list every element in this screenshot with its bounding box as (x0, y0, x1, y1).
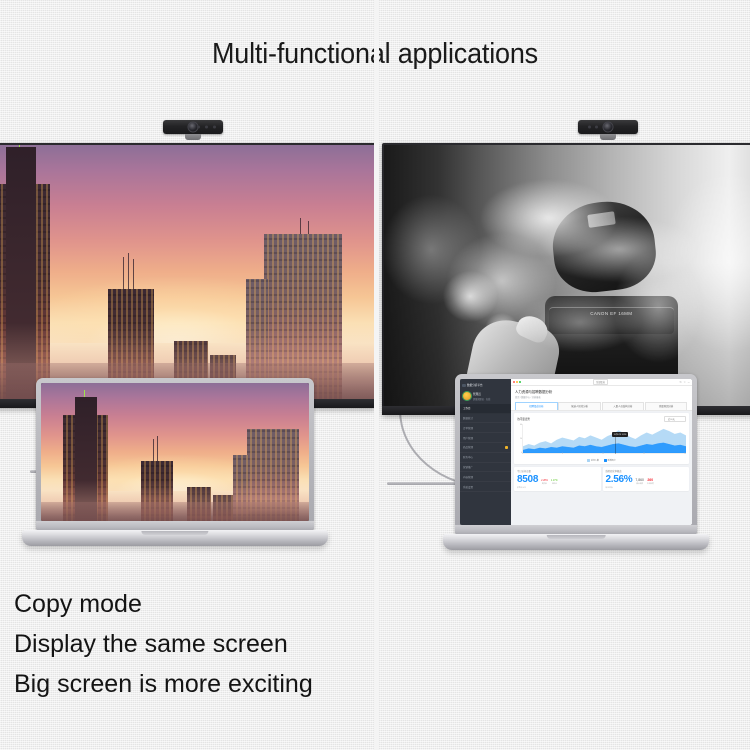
antenna (19, 145, 20, 147)
antenna (123, 257, 124, 289)
user-role: 超级管理员 · 在线 (473, 399, 490, 401)
city-skyline-image-mirror (41, 383, 309, 521)
laptop-right: 数据分析平台 管理员 超级管理员 · 在线 工作台 (455, 374, 697, 550)
sidebar-item-3[interactable]: 用户管理 (460, 433, 511, 443)
poster-root: Multi-functional applications (0, 0, 750, 750)
kpi-extra-value: 7,860 (635, 478, 644, 482)
chart-legend: 访问人数 新增用户 (517, 459, 686, 462)
x-tick: 30 (684, 454, 686, 457)
caption-line-3: Big screen is more exciting (14, 664, 313, 704)
kpi-sub: 较昨日上升 (517, 486, 597, 489)
chart-tooltip: 12月17日 3,218 (612, 432, 629, 437)
channel-selector[interactable]: 全部渠道 (593, 379, 608, 385)
antenna (84, 390, 85, 397)
sidebar-item-1[interactable]: 数据统计 (460, 414, 511, 424)
kpi-extra-0: 7,860 累计线索 (635, 478, 644, 485)
sidebar-item-label: 用户管理 (463, 436, 473, 440)
antenna (128, 253, 129, 289)
kpi-row-values: 8508 2.28% 周同比 1.17% 日环比 (517, 475, 597, 485)
tv-bezel (0, 143, 374, 408)
webcam-device-right (578, 120, 638, 134)
bell-icon[interactable]: ☆ (683, 381, 685, 384)
x-tick: 1 (522, 454, 523, 457)
kpi-card-1: 线索转化率概览 2.56% 7,860 累计线索 260 (603, 467, 689, 492)
sidebar-item-label: 订单管理 (463, 426, 473, 430)
sidebar-item-label: 数据统计 (463, 416, 473, 420)
antenna (157, 436, 158, 461)
antenna (308, 221, 309, 234)
kpi-delta-0: 2.28% 周同比 (541, 479, 548, 485)
tab-2[interactable]: 入职人员结构分析 (602, 402, 645, 410)
laptop-lid (36, 378, 314, 530)
kpi-row: 今日访问总量 8508 2.28% 周同比 1.17% (514, 467, 689, 492)
kpi-extra-value: 260 (647, 478, 653, 482)
analytics-dashboard: 数据分析平台 管理员 超级管理员 · 在线 工作台 (460, 379, 692, 525)
copy-mode-caption: Copy mode Display the same screen Big sc… (14, 584, 313, 704)
sidebar-item-5[interactable]: 财务中心 (460, 453, 511, 463)
sidebar-brand: 数据分析平台 (460, 381, 511, 389)
sidebar-item-label: 内容管理 (463, 475, 473, 479)
area-chart: 40 20 0 1 8 (517, 424, 686, 457)
tv-screen (0, 145, 374, 399)
dashboard-page-header: 人力资源与招聘数据分析 首页 / 数据中心 / 分析报表 (511, 386, 692, 401)
sidebar-item-label: 营销推广 (463, 465, 473, 469)
range-dropdown[interactable]: 近30天 (664, 416, 686, 423)
webcam-lens-icon (604, 123, 613, 132)
sidebar-item-label: 财务中心 (463, 455, 473, 459)
webcam-device-left (163, 120, 223, 134)
webcam-clip (600, 134, 616, 140)
tab-0[interactable]: 招聘渠道分析 (515, 402, 558, 410)
kpi-extra-caption: 累计线索 (636, 483, 643, 485)
sidebar-item-0[interactable]: 工作台 (460, 404, 511, 414)
window-controls[interactable] (513, 381, 521, 383)
topbar-icons: ↻ ☆ ⋯ (679, 381, 690, 384)
kpi-card-0: 今日访问总量 8508 2.28% 周同比 1.17% (514, 467, 600, 492)
legend-label: 访问人数 (591, 459, 599, 462)
webcam-body (578, 120, 638, 134)
kpi-delta-1: 1.17% 日环比 (551, 479, 558, 485)
sidebar-item-6[interactable]: 营销推广 (460, 463, 511, 473)
webcam-mic-dot (205, 126, 208, 129)
chart-svg (523, 424, 686, 453)
laptop-screen-right: 数据分析平台 管理员 超级管理员 · 在线 工作台 (460, 379, 692, 525)
laptop-trackpad-notch (547, 535, 606, 539)
close-icon[interactable] (513, 381, 515, 383)
antenna (133, 259, 134, 289)
laptop-base (443, 534, 709, 550)
legend-swatch (604, 459, 607, 462)
refresh-icon[interactable]: ↻ (679, 381, 681, 384)
kpi-extra-1: 260 今日新增 (647, 478, 654, 485)
caption-line-1: Copy mode (14, 584, 313, 624)
atmosphere-haze (41, 480, 309, 521)
photographer-image: CANON EF 16MM (384, 145, 750, 406)
tab-3[interactable]: 离职原因分析 (645, 402, 688, 410)
extended-mode-panel: CANON EF 16MM LeTV (379, 0, 750, 750)
legend-item-0[interactable]: 访问人数 (587, 459, 599, 462)
smoke-overlay (384, 145, 750, 406)
minimize-icon[interactable] (516, 381, 518, 383)
sidebar-item-2[interactable]: 订单管理 (460, 423, 511, 433)
kpi-value: 2.56% (606, 475, 633, 485)
x-tick: 15 (602, 454, 604, 457)
kpi-label: 线索转化率概览 (606, 469, 686, 473)
antenna (300, 218, 301, 234)
kpi-value: 8508 (517, 475, 538, 485)
webcam-mic-dot (595, 126, 598, 129)
more-icon[interactable]: ⋯ (688, 381, 690, 384)
sidebar-item-label: 商品管理 (463, 445, 473, 449)
chart-plot-area (522, 424, 686, 454)
caption-line-2: Display the same screen (14, 624, 313, 664)
avatar (463, 392, 471, 400)
sidebar-user[interactable]: 管理员 超级管理员 · 在线 (460, 389, 511, 404)
laptop-lid-chin (36, 521, 314, 530)
x-axis: 1 8 15 22 30 (522, 454, 686, 457)
webcam-mic-dot (197, 126, 200, 129)
laptop-base (22, 530, 328, 546)
dashboard-main: 全部渠道 ↻ ☆ ⋯ 人力资源与招聘数据分析 首页 / 数据中心 / 分析报表 (511, 379, 692, 525)
laptop-left (36, 378, 314, 546)
sidebar-item-7[interactable]: 内容管理 (460, 472, 511, 482)
webcam-mic-dot (588, 126, 591, 129)
kpi-label: 今日访问总量 (517, 469, 597, 473)
kpi-extra-caption: 今日新增 (647, 483, 654, 485)
brand-logo-icon (462, 384, 466, 387)
laptop-screen-left (41, 383, 309, 521)
kpi-delta-caption: 日环比 (552, 483, 557, 485)
kpi-delta-caption: 周同比 (542, 483, 547, 485)
sidebar-item-8[interactable]: 系统设置 (460, 482, 511, 492)
user-meta: 管理员 超级管理员 · 在线 (473, 392, 490, 401)
trend-chart-card: 访问量走势 近30天 40 20 0 (514, 413, 689, 464)
maximize-icon[interactable] (519, 381, 521, 383)
city-skyline-image (0, 145, 374, 399)
webcam-mic-dot (213, 126, 216, 129)
kpi-sub: 转化目标 (606, 486, 686, 489)
laptop-lid-chin (455, 525, 697, 534)
tv-screen: CANON EF 16MM (384, 145, 750, 406)
laptop-lid: 数据分析平台 管理员 超级管理员 · 在线 工作台 (455, 374, 697, 534)
tv-display-left (0, 143, 374, 408)
copy-mode-panel: Copy mode Display the same screen Big sc… (0, 0, 374, 750)
legend-item-1[interactable]: 新增用户 (604, 459, 616, 462)
sidebar-badge (505, 446, 508, 449)
page-heading: 人力资源与招聘数据分析 (515, 389, 688, 394)
dashboard-sidebar: 数据分析平台 管理员 超级管理员 · 在线 工作台 (460, 379, 511, 525)
user-name: 管理员 (473, 393, 481, 396)
dashboard-topbar: 全部渠道 ↻ ☆ ⋯ (511, 379, 692, 386)
legend-label: 新增用户 (608, 459, 616, 462)
webcam-clip (185, 134, 201, 140)
x-tick: 22 (643, 454, 645, 457)
laptop-trackpad-notch (141, 531, 208, 535)
antenna (153, 439, 154, 461)
dashboard-tabs: 招聘渠道分析 候选人转化分析 入职人员结构分析 离职原因分析 (511, 401, 692, 411)
legend-swatch (587, 459, 590, 462)
chart-card-header: 访问量走势 近30天 (517, 416, 686, 423)
x-tick: 8 (562, 454, 563, 457)
panel-divider (374, 0, 379, 750)
chart-title: 访问量走势 (517, 417, 530, 421)
kpi-row-values: 2.56% 7,860 累计线索 260 今日新增 (606, 475, 686, 485)
brand-name: 数据分析平台 (467, 383, 483, 387)
breadcrumb: 首页 / 数据中心 / 分析报表 (515, 395, 688, 399)
webcam-body (163, 120, 223, 134)
sidebar-item-label: 工作台 (463, 406, 471, 410)
tab-1[interactable]: 候选人转化分析 (558, 402, 601, 410)
sidebar-item-label: 系统设置 (463, 485, 473, 489)
sidebar-item-4[interactable]: 商品管理 (460, 443, 511, 453)
